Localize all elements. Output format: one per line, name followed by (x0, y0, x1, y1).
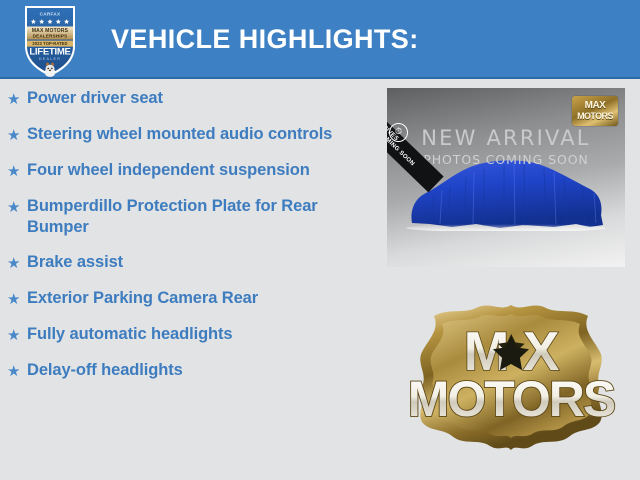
star-bullet-icon: ★ (7, 160, 27, 182)
star-bullet-icon: ★ (7, 252, 27, 274)
star-bullet-icon: ★ (7, 88, 27, 110)
vehicle-highlights-slide: CARFAX MAX MOTORS DEALERSHIPS 2023 TOP-R… (0, 0, 640, 480)
list-item-label: Bumperdillo Protection Plate for Rear Bu… (27, 196, 372, 238)
star-bullet-icon: ★ (7, 124, 27, 146)
list-item-label: Power driver seat (27, 88, 372, 109)
max-motors-logo-icon: M X MOTORS (404, 300, 618, 455)
vehicle-photo-inner: NEW ARRIVAL PHOTOS COMING SOON AS IT ARR… (387, 88, 625, 267)
list-item-label: Brake assist (27, 252, 372, 273)
list-item-label: Steering wheel mounted audio controls (27, 124, 372, 145)
list-item-label: Four wheel independent suspension (27, 160, 372, 181)
page-title: VEHICLE HIGHLIGHTS: (111, 22, 419, 56)
list-item: ★ Steering wheel mounted audio controls (0, 124, 372, 146)
star-bullet-icon: ★ (7, 288, 27, 310)
list-item: ★ Power driver seat (0, 88, 372, 110)
max-motors-logo[interactable]: M X MOTORS (404, 300, 618, 455)
star-bullet-icon: ★ (7, 196, 27, 218)
svg-text:DEALER: DEALER (39, 57, 61, 61)
star-bullet-icon: ★ (7, 360, 27, 382)
list-item: ★ Four wheel independent suspension (0, 160, 372, 182)
vehicle-photo-placeholder[interactable]: NEW ARRIVAL PHOTOS COMING SOON AS IT ARR… (387, 88, 625, 267)
list-item: ★ Bumperdillo Protection Plate for Rear … (0, 196, 372, 238)
svg-text:2023 TOP-RATED: 2023 TOP-RATED (32, 41, 67, 46)
header-bar: CARFAX MAX MOTORS DEALERSHIPS 2023 TOP-R… (0, 0, 640, 79)
clock-icon: ⏱ (389, 123, 408, 142)
svg-text:MOTORS: MOTORS (408, 371, 615, 427)
list-item: ★ Fully automatic headlights (0, 324, 372, 346)
vehicle-highlights-list: ★ Power driver seat ★ Steering wheel mou… (0, 88, 372, 396)
watermark-line-2: MOTORS (577, 111, 613, 121)
max-motors-watermark: MAX MOTORS (572, 96, 618, 126)
list-item-label: Fully automatic headlights (27, 324, 372, 345)
list-item: ★ Exterior Parking Camera Rear (0, 288, 372, 310)
carfax-badge-icon: CARFAX MAX MOTORS DEALERSHIPS 2023 TOP-R… (22, 2, 78, 78)
list-item: ★ Delay-off headlights (0, 360, 372, 382)
watermark-line-1: MAX (585, 101, 606, 111)
photo-overlay-title: NEW ARRIVAL (387, 126, 625, 150)
list-item-label: Delay-off headlights (27, 360, 372, 381)
list-item: ★ Brake assist (0, 252, 372, 274)
svg-text:DEALERSHIPS: DEALERSHIPS (33, 33, 68, 38)
carfax-top-rated-dealer-badge: CARFAX MAX MOTORS DEALERSHIPS 2023 TOP-R… (22, 2, 78, 78)
list-item-label: Exterior Parking Camera Rear (27, 288, 372, 309)
star-bullet-icon: ★ (7, 324, 27, 346)
svg-text:CARFAX: CARFAX (40, 12, 61, 17)
